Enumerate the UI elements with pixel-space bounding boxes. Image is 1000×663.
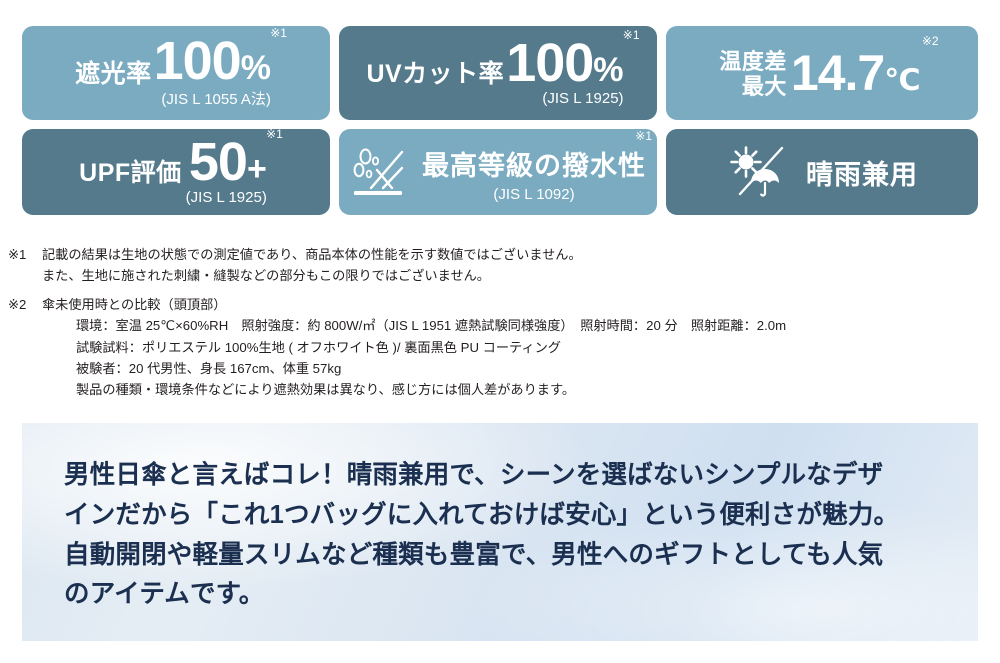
feature-unit-uv-cut: % — [593, 53, 623, 87]
feature-card-rain-or-shine: 晴雨兼用 — [666, 129, 978, 215]
feature-infographic: 遮光率 100 % (JIS L 1055 A法) ※1 UVカット率 100 — [0, 0, 1000, 663]
footnote-1: ※1 記載の結果は生地の状態での測定値であり、商品本体の性能を示す数値ではござい… — [8, 244, 908, 287]
footnote-2: ※2 傘未使用時との比較（頭頂部） 環境：室温 25℃×60%RH 照射強度：約… — [8, 294, 908, 401]
description-line-1: 男性日傘と言えばコレ！晴雨兼用で、シーンを選ばないシンプルなデザ — [64, 456, 944, 496]
feature-value-uv-cut: 100 — [506, 39, 593, 89]
feature-card-light-blocking: 遮光率 100 % (JIS L 1055 A法) ※1 — [22, 26, 330, 120]
feature-title-rain-or-shine: 晴雨兼用 — [806, 153, 918, 192]
sun-umbrella-icon — [726, 144, 788, 200]
feature-value-upf-rating: 50 — [189, 138, 247, 188]
footnote-1-line-2: また、生地に施された刺繍・縫製などの部分もこの限りではございません。 — [42, 268, 490, 283]
water-repellent-icon — [350, 146, 408, 200]
feature-ref-water-repellency: ※1 — [635, 130, 652, 142]
footnote-2-line-1: 傘未使用時との比較（頭頂部） — [42, 297, 227, 312]
feature-ref-light-blocking: ※1 — [270, 27, 287, 39]
feature-label-uv-cut: UVカット率 — [366, 62, 504, 87]
feature-unit-temperature-difference: ℃ — [884, 66, 920, 96]
feature-card-temperature-difference: 温度差 最大 14.7 ℃ ※2 — [666, 26, 978, 120]
feature-ref-temperature-difference: ※2 — [922, 35, 939, 47]
footnote-2-line-4: 被験者：20 代男性、身長 167cm、体重 57kg — [42, 358, 341, 379]
feature-label-light-blocking: 遮光率 — [75, 62, 152, 87]
feature-ref-upf-rating: ※1 — [266, 129, 283, 140]
feature-card-water-repellency: 最高等級の撥水性 (JIS L 1092) ※1 — [339, 129, 657, 215]
footnote-1-line-1: 記載の結果は生地の状態での測定値であり、商品本体の性能を示す数値ではございません… — [42, 247, 582, 262]
footnote-2-line-5: 製品の種類・環境条件などにより遮熱効果は異なり、感じ方には個人差があります。 — [42, 379, 575, 400]
feature-unit-upf-rating: + — [247, 152, 267, 186]
footnote-2-mark: ※2 — [8, 294, 42, 401]
feature-value-temperature-difference: 14.7 — [791, 50, 884, 96]
footnote-2-line-3: 試験試料：ポリエステル 100%生地 ( オフホワイト色 )/ 裏面黒色 PU … — [42, 337, 561, 358]
feature-card-upf-rating: UPF評価 50 + (JIS L 1925) ※1 — [22, 129, 330, 215]
feature-label-temperature-difference: 温度差 最大 — [719, 49, 787, 100]
feature-card-grid: 遮光率 100 % (JIS L 1055 A法) ※1 UVカット率 100 — [22, 26, 978, 215]
feature-note-light-blocking: (JIS L 1055 A法) — [161, 88, 271, 109]
description-text: 男性日傘と言えばコレ！晴雨兼用で、シーンを選ばないシンプルなデザ インだから「こ… — [64, 456, 944, 615]
feature-card-uv-cut: UVカット率 100 % (JIS L 1925) ※1 — [339, 26, 657, 120]
footnote-1-mark: ※1 — [8, 244, 42, 287]
feature-note-water-repellency: (JIS L 1092) — [493, 186, 574, 203]
footnote-2-line-2: 環境：室温 25℃×60%RH 照射強度：約 800W/㎡（JIS L 1951… — [42, 315, 786, 336]
description-panel: 男性日傘と言えばコレ！晴雨兼用で、シーンを選ばないシンプルなデザ インだから「こ… — [22, 423, 978, 641]
description-line-4: のアイテムです。 — [64, 575, 944, 615]
feature-note-upf-rating: (JIS L 1925) — [186, 189, 267, 206]
feature-ref-uv-cut: ※1 — [623, 29, 640, 41]
description-line-2: インだから「これ1つバッグに入れておけば安心」という便利さが魅力。 — [64, 496, 944, 536]
footnotes: ※1 記載の結果は生地の状態での測定値であり、商品本体の性能を示す数値ではござい… — [8, 244, 908, 403]
description-line-3: 自動開閉や軽量スリムなど種類も豊富で、男性へのギフトとしても人気 — [64, 536, 944, 576]
feature-label-upf-rating: UPF評価 — [79, 161, 182, 186]
feature-unit-light-blocking: % — [241, 51, 271, 85]
feature-value-light-blocking: 100 — [154, 37, 241, 87]
feature-note-uv-cut: (JIS L 1925) — [542, 90, 623, 107]
feature-title-water-repellency: 最高等級の撥水性 — [422, 144, 646, 183]
